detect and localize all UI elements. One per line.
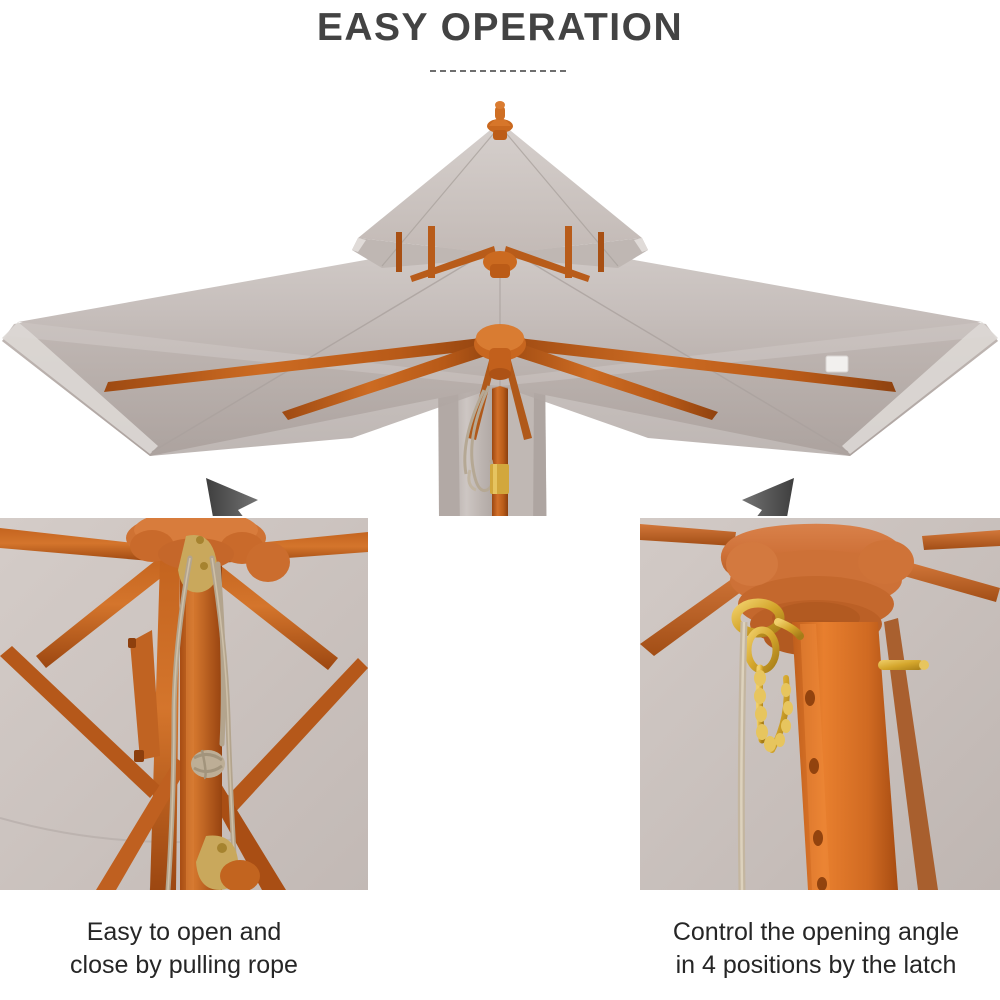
hanging-cord <box>741 622 744 890</box>
latch-detail-panel <box>640 518 1000 890</box>
hero-product-image <box>0 86 1000 516</box>
rope-pulley-detail-panel <box>0 518 368 890</box>
product-tag <box>826 356 848 372</box>
header: EASY OPERATION <box>0 0 1000 92</box>
caption-left-line-2: close by pulling rope <box>0 949 384 982</box>
page-title: EASY OPERATION <box>0 6 1000 50</box>
rope-knot <box>191 750 225 778</box>
caption-right-line-1: Control the opening angle <box>616 916 1000 949</box>
brass-joint <box>490 464 509 494</box>
caption-left-line-1: Easy to open and <box>0 916 384 949</box>
caption-right-line-2: in 4 positions by the latch <box>616 949 1000 982</box>
brass-pin <box>878 660 929 670</box>
open-arrow-left <box>206 478 320 516</box>
dashed-divider-icon <box>430 70 570 72</box>
caption-left: Easy to open and close by pulling rope <box>0 916 384 982</box>
caption-right: Control the opening angle in 4 positions… <box>616 916 1000 982</box>
open-arrow-right <box>680 478 794 516</box>
